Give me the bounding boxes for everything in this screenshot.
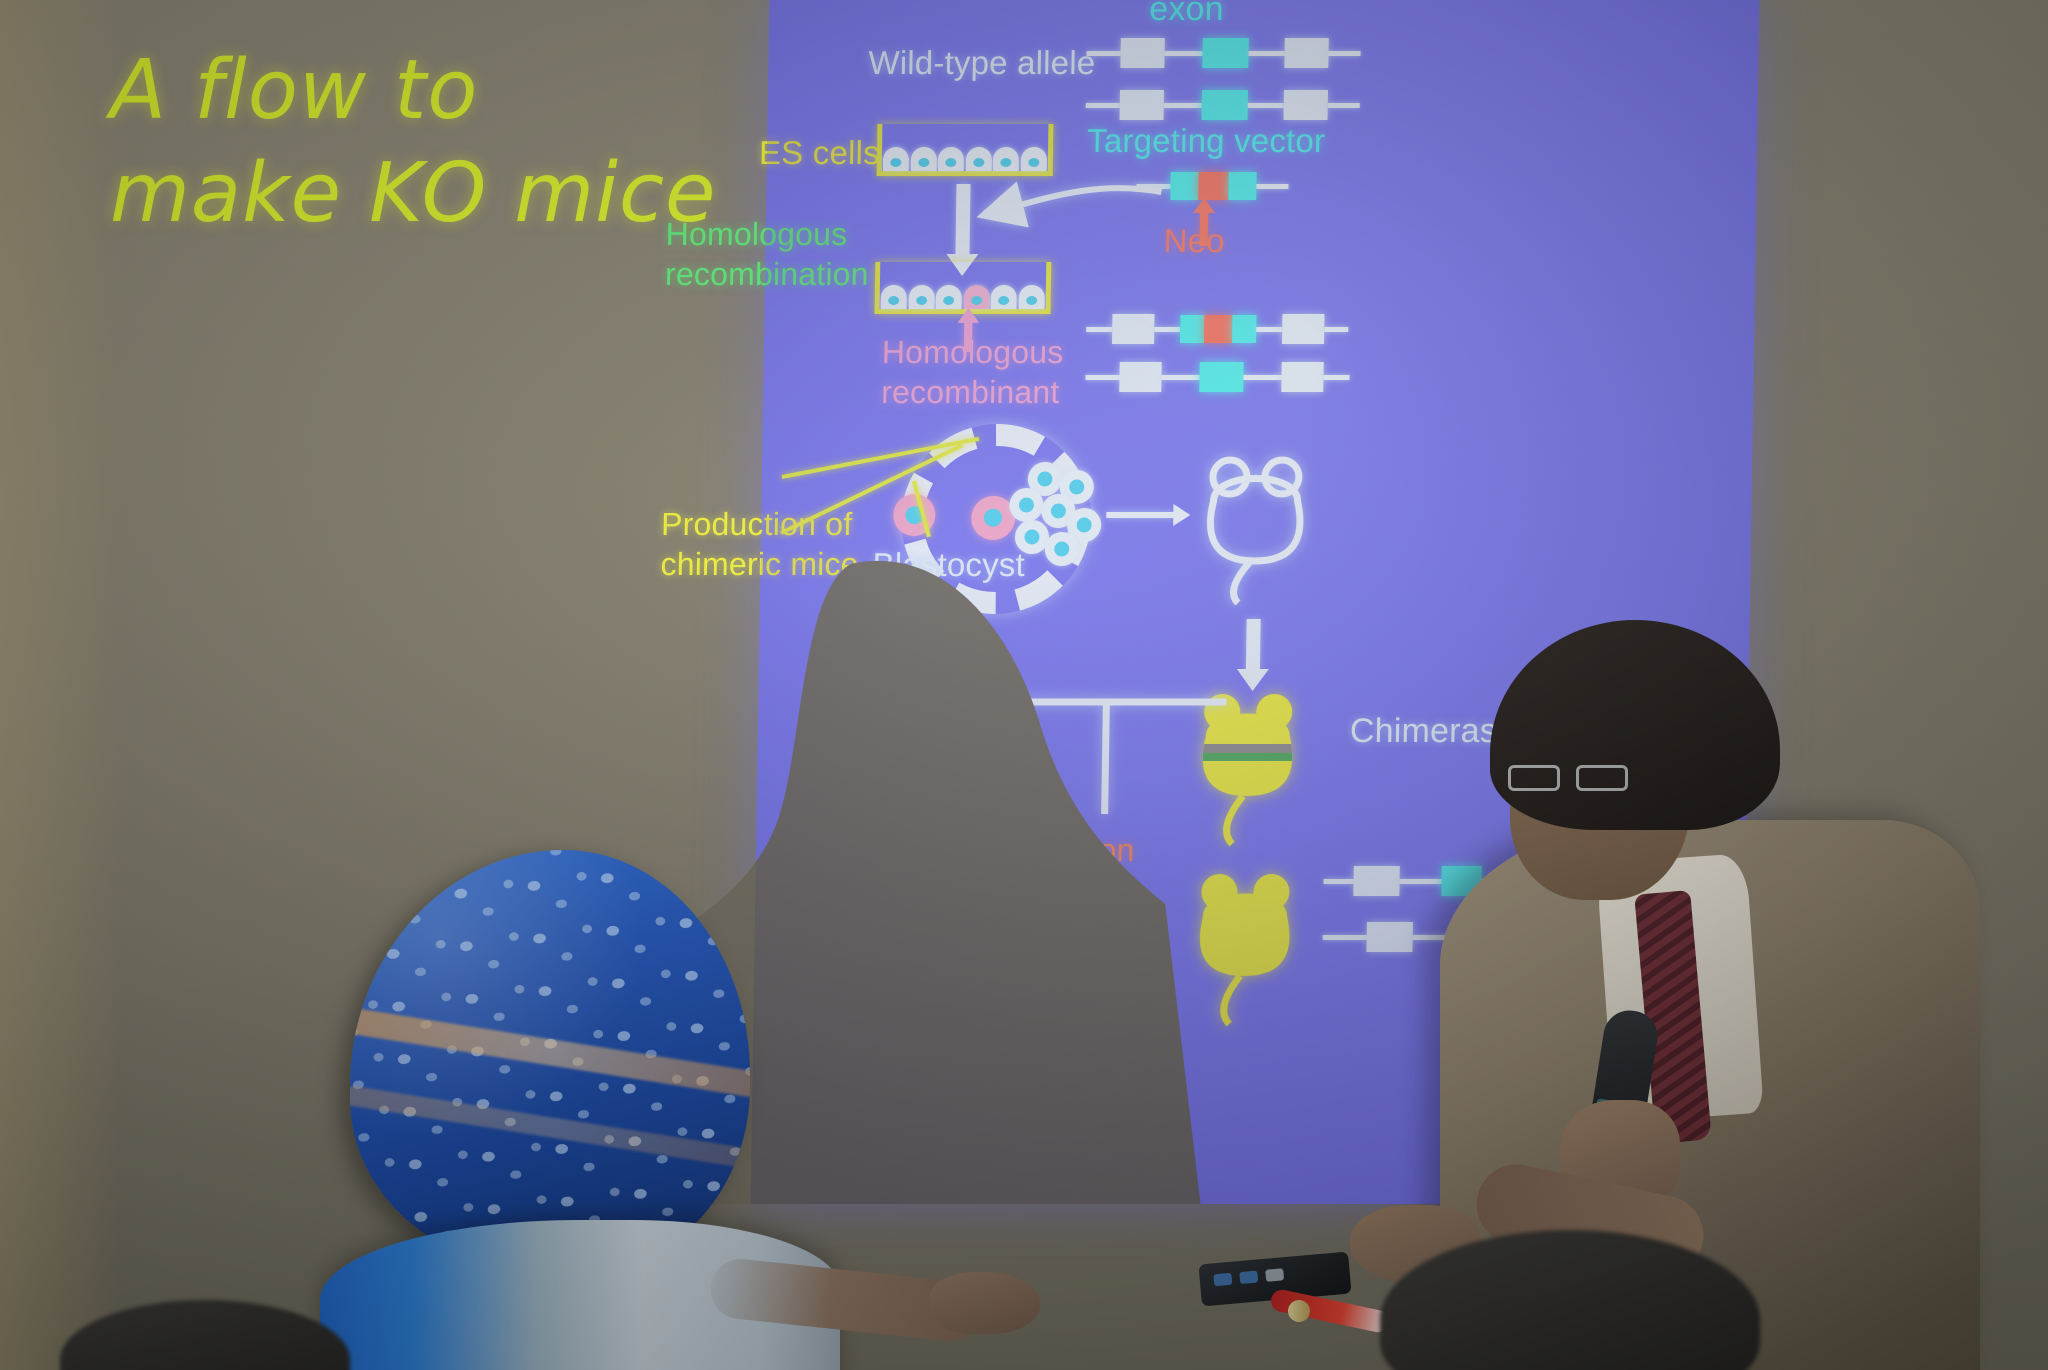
lecture-room-scene: exon Wild-type allele	[0, 0, 2048, 1370]
scene-vignette	[0, 0, 2048, 1370]
